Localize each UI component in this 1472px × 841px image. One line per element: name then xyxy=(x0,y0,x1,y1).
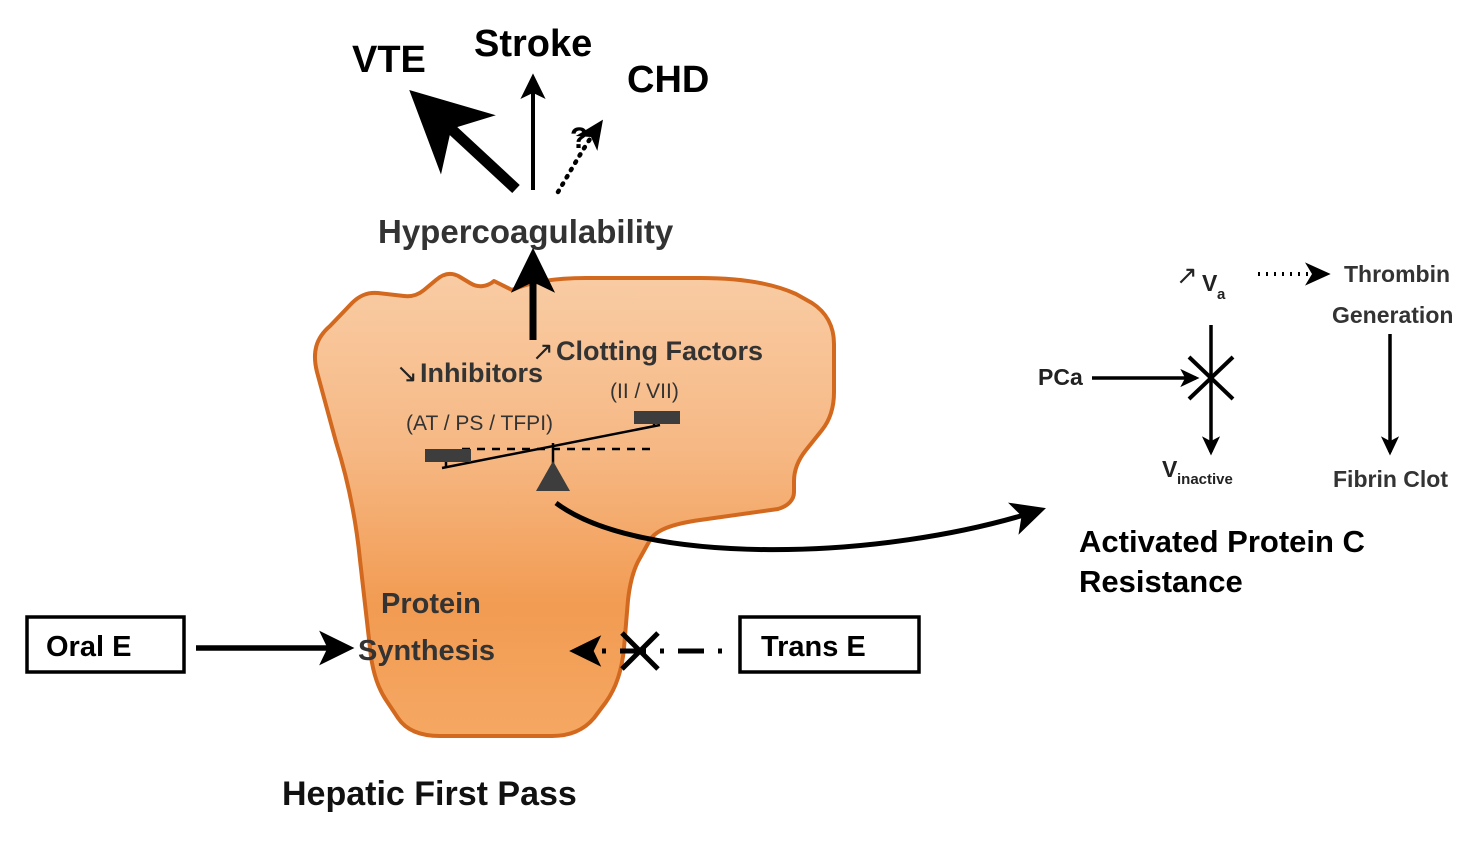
outcome-vte-label: VTE xyxy=(352,39,426,81)
protein-synthesis-line1: Protein xyxy=(381,588,481,620)
clotting-factors-sub-label: (II / VII) xyxy=(610,380,679,403)
v-inactive-label: V xyxy=(1162,456,1178,482)
chd-question-mark: ? xyxy=(570,122,588,155)
diagram-canvas: VTE Stroke CHD ? Hypercoagulability ↗ Cl… xyxy=(0,0,1472,841)
thrombin-generation-line1: Thrombin xyxy=(1344,261,1450,287)
outcome-chd-label: CHD xyxy=(627,59,709,101)
balance-pan-inhibitors xyxy=(425,449,471,462)
clotting-factors-label: Clotting Factors xyxy=(556,336,763,366)
apc-resistance-title-line1: Activated Protein C xyxy=(1079,524,1365,559)
hepatic-first-pass-diagram: VTE Stroke CHD ? Hypercoagulability ↗ Cl… xyxy=(0,0,1472,841)
thrombin-generation-line2: Generation xyxy=(1332,302,1453,328)
va-up-arrow-icon: ↗ xyxy=(1176,260,1198,290)
protein-synthesis-line2: Synthesis xyxy=(358,635,495,667)
balance-pan-clotting-factors xyxy=(634,411,680,424)
apc-resistance-title-line2: Resistance xyxy=(1079,564,1243,599)
arrow-hyper-to-vte xyxy=(420,100,516,189)
page-title: Hepatic First Pass xyxy=(282,775,577,813)
trans-e-label: Trans E xyxy=(761,631,866,663)
apc-resistance-panel: ↗ V a Thrombin Generation Fibrin Clot PC… xyxy=(1038,260,1453,599)
outcome-stroke-label: Stroke xyxy=(474,23,592,65)
inhibitors-label: Inhibitors xyxy=(420,358,543,388)
fibrin-clot-label: Fibrin Clot xyxy=(1333,466,1448,492)
inhibitors-sub-label: (AT / PS / TFPI) xyxy=(406,412,553,435)
va-subscript: a xyxy=(1217,286,1226,303)
pca-label: PCa xyxy=(1038,364,1083,390)
oral-e-label: Oral E xyxy=(46,631,131,663)
hypercoagulability-label: Hypercoagulability xyxy=(378,213,674,250)
va-label: V xyxy=(1202,270,1218,296)
inhibitors-down-arrow-icon: ↘ xyxy=(396,358,418,388)
v-inactive-subscript: inactive xyxy=(1177,471,1233,488)
